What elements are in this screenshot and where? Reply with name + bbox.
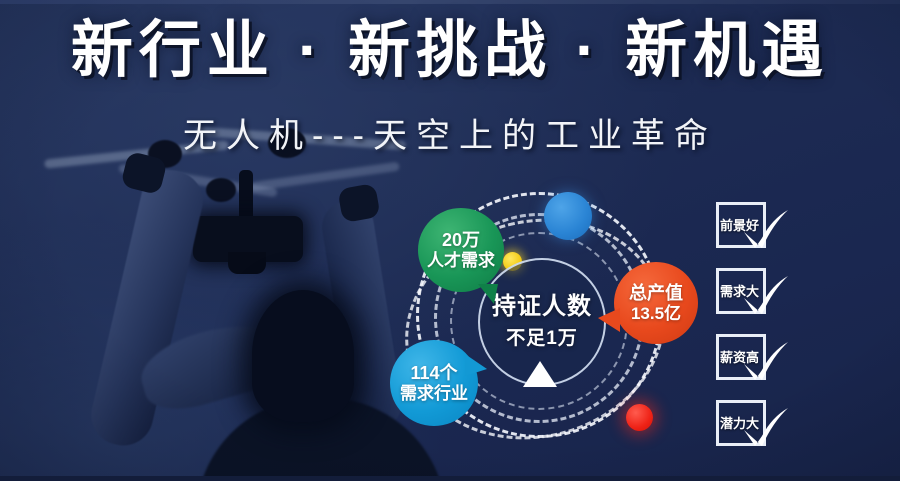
checklist-item: 潜力大 bbox=[716, 400, 876, 448]
poster-root: 新行业 · 新挑战 · 新机遇 无人机---天空上的工业革命 持证人数 不足1万… bbox=[0, 0, 900, 481]
bubble-industry-count: 114个 需求行业 bbox=[390, 340, 478, 426]
person-left-arm bbox=[85, 165, 208, 452]
drone-rotor-icon bbox=[250, 162, 400, 192]
drone-camera-icon bbox=[228, 252, 266, 274]
bubble-value: 13.5亿 bbox=[631, 304, 681, 324]
orbit-infographic: 持证人数 不足1万 20万 人才需求 114个 需求行业 总产值 13.5亿 bbox=[398, 180, 698, 465]
up-triangle-icon bbox=[523, 361, 557, 387]
bubble-label: 人才需求 bbox=[427, 251, 495, 271]
orbit-dot-blue bbox=[544, 192, 592, 240]
bubble-label: 需求行业 bbox=[400, 384, 468, 404]
check-mark-icon bbox=[740, 208, 792, 254]
bubble-talent-demand: 20万 人才需求 bbox=[418, 208, 504, 292]
drone-motor-icon bbox=[206, 178, 236, 202]
checklist-item: 前景好 bbox=[716, 202, 876, 250]
bubble-value: 114个 bbox=[410, 363, 457, 384]
checklist-item: 薪资高 bbox=[716, 334, 876, 382]
check-mark-icon bbox=[740, 406, 792, 452]
benefits-checklist: 前景好 需求大 薪资高 bbox=[716, 202, 876, 466]
center-stat-value: 不足1万 bbox=[506, 323, 578, 350]
bubble-value: 20万 bbox=[442, 230, 480, 251]
check-mark-icon bbox=[740, 340, 792, 386]
checklist-item: 需求大 bbox=[716, 268, 876, 316]
person-head bbox=[252, 290, 354, 422]
bubble-label: 总产值 bbox=[629, 283, 683, 304]
bottom-edge-strip bbox=[0, 476, 900, 481]
top-edge-strip bbox=[0, 0, 900, 4]
person-right-hand bbox=[337, 183, 380, 223]
center-stat-title: 持证人数 bbox=[492, 294, 592, 320]
page-title: 新行业 · 新挑战 · 新机遇 bbox=[0, 18, 900, 85]
page-subtitle: 无人机---天空上的工业革命 bbox=[0, 108, 900, 157]
bubble-total-output-value: 总产值 13.5亿 bbox=[614, 262, 698, 344]
orbit-dot-red bbox=[626, 404, 653, 431]
check-mark-icon bbox=[740, 274, 792, 320]
